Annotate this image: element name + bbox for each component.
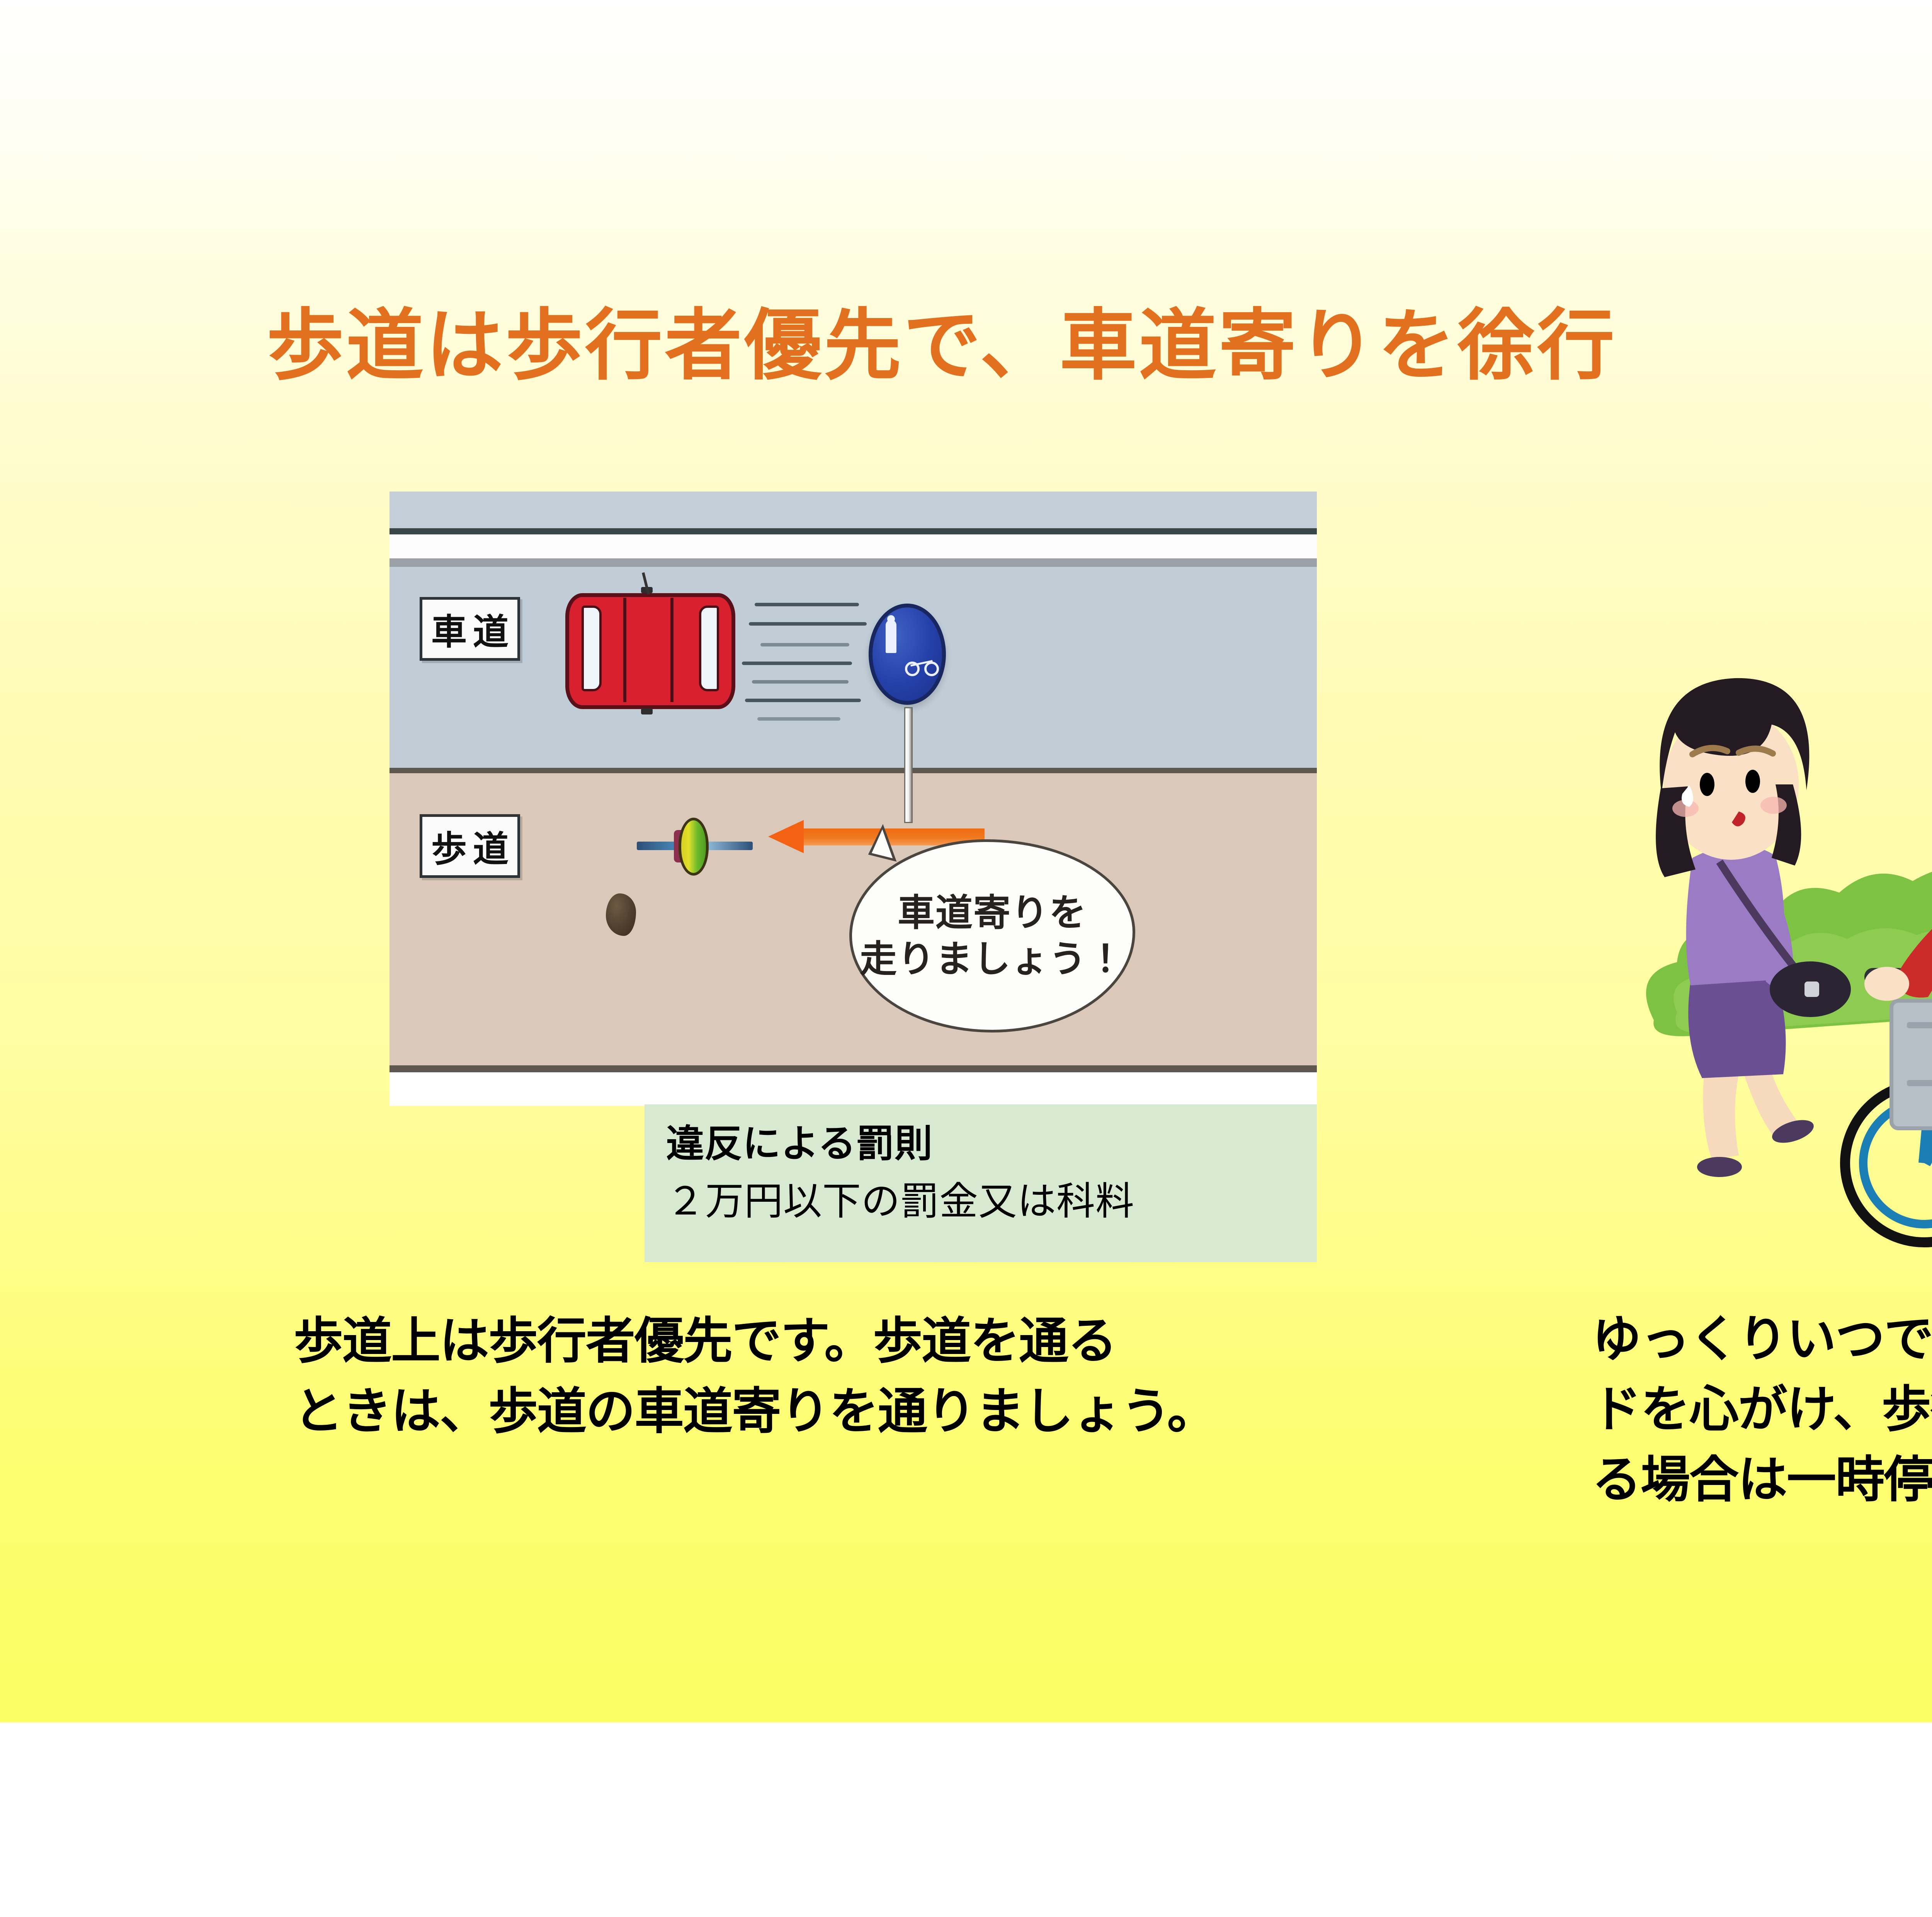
roadway-label-plate: 車道 xyxy=(420,597,520,661)
handlebar-right xyxy=(707,842,753,850)
sidewalk-label-plate: 歩道 xyxy=(420,814,520,878)
motion-line xyxy=(745,699,861,702)
pedestrian-and-bicycle-sign xyxy=(869,604,946,705)
motion-line xyxy=(760,643,849,646)
speech-bubble-line-2: 走りましょう！ xyxy=(860,936,1125,982)
kerb-line xyxy=(389,768,1317,773)
penalty-amount: ２万円以下の罰金又は科料 xyxy=(666,1180,1295,1223)
penalty-box: 違反による罰則 ２万円以下の罰金又は科料 xyxy=(645,1104,1317,1262)
speech-bubble-line-1: 車道寄りを xyxy=(898,890,1087,936)
roadway-surface xyxy=(389,567,1317,768)
page-title: 歩道は歩行者優先で、車道寄りを徐行 xyxy=(267,301,1932,390)
motion-line xyxy=(752,680,849,684)
caption-left: 歩道上は歩行者優先です。歩道を通るときは、歩道の車道寄りを通りましょう。 xyxy=(294,1306,1492,1447)
motion-line xyxy=(742,662,852,665)
road-edge-line-top xyxy=(389,528,1317,534)
car-mirror-right xyxy=(641,708,653,714)
road-diagram-panel: 車道 歩道 xyxy=(389,492,1317,1106)
motion-line xyxy=(755,603,859,606)
bicycle-icon xyxy=(905,657,939,678)
rider-helmet xyxy=(679,818,709,876)
penalty-title: 違反による罰則 xyxy=(666,1123,1295,1165)
far-roadway-band xyxy=(389,492,1317,528)
pedestrians-and-cyclist-illustration xyxy=(1538,641,1932,1267)
speech-bubble: 車道寄りを 走りましょう！ xyxy=(849,839,1135,1032)
slide-canvas: 歩道は歩行者優先で、車道寄りを徐行 車道 歩道 xyxy=(0,0,1932,1917)
bicycle-basket xyxy=(1891,1001,1932,1128)
center-white-band xyxy=(389,534,1317,558)
pedestrian-icon-body xyxy=(886,620,896,653)
speech-bubble-body: 車道寄りを 走りましょう！ xyxy=(849,839,1135,1032)
arrow-head xyxy=(768,820,804,853)
kerb-line-bottom xyxy=(389,1065,1317,1072)
caption-right: ゆっくりいつでも止まれるスピードを心がけ、歩行者の妨げになる場合は一時停止しまし… xyxy=(1592,1304,1932,1515)
bicycle-wheel-right xyxy=(924,662,939,676)
motion-line xyxy=(757,717,840,721)
roadway-label-text: 車道 xyxy=(425,603,515,655)
red-car-icon xyxy=(565,593,735,709)
sign-pole xyxy=(904,707,913,823)
sidewalk-bicycle-topview-icon xyxy=(637,809,753,883)
car-roof-line-b xyxy=(670,598,673,702)
car-window-front xyxy=(582,606,602,691)
motion-line xyxy=(749,622,867,626)
people-scene-svg xyxy=(1538,641,1932,1267)
car-window-rear xyxy=(699,606,719,691)
panel-bottom-white xyxy=(389,1072,1317,1106)
road-edge-line-grey xyxy=(389,558,1317,567)
sign-disc xyxy=(869,604,946,705)
car-roof-line-a xyxy=(623,598,626,702)
sidewalk-label-text: 歩道 xyxy=(425,820,515,872)
